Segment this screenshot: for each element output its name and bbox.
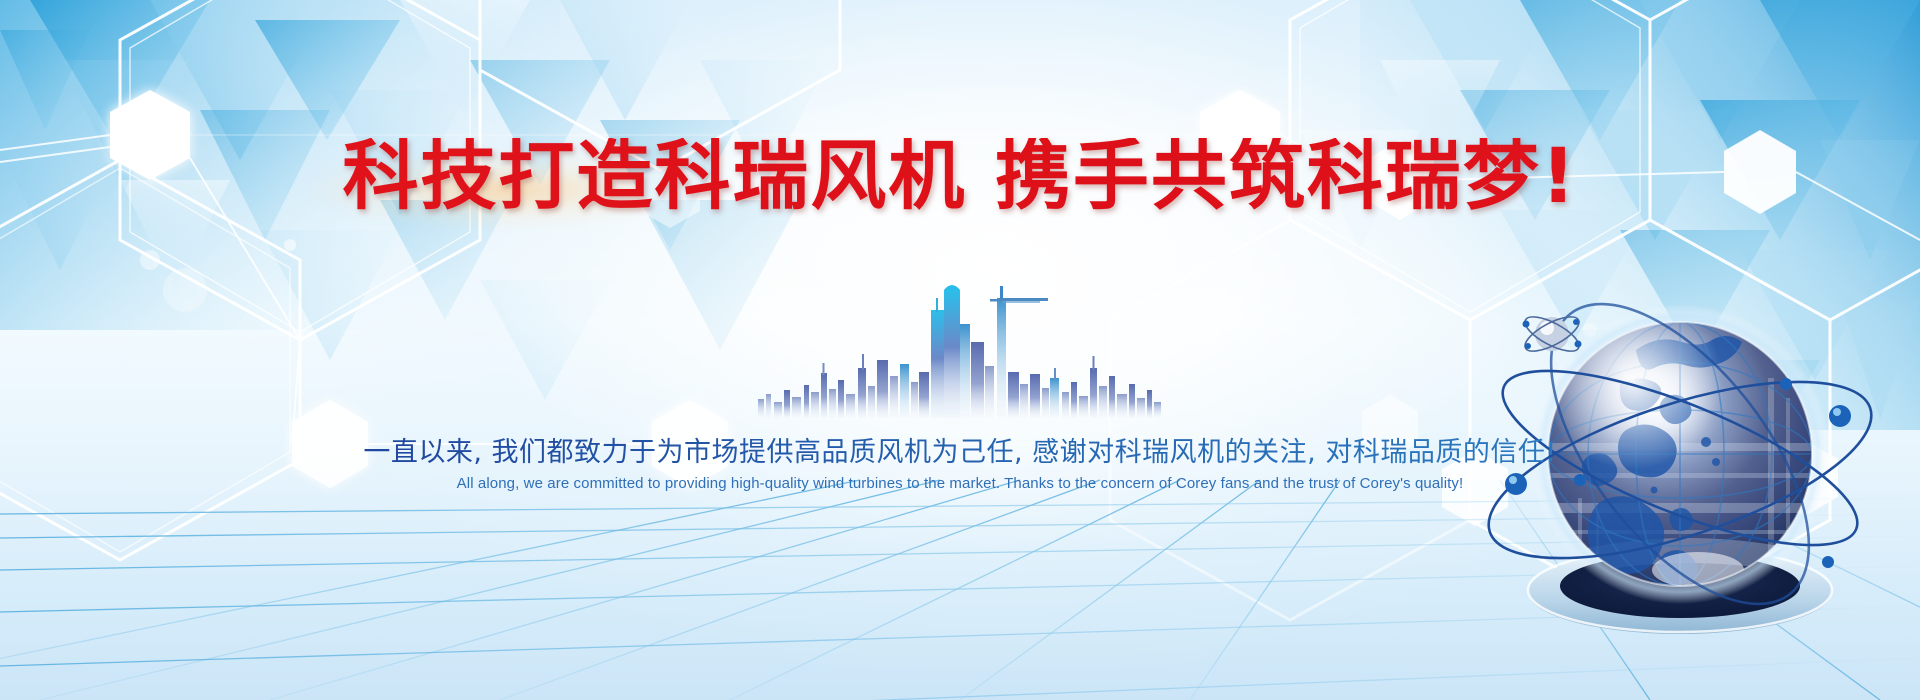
subtitle-chinese: 一直以来, 我们都致力于为市场提供高品质风机为己任, 感谢对科瑞风机的关注, 对… xyxy=(0,430,1920,469)
banner-content: 科技打造科瑞风机 携手共筑科瑞梦! 一直以来, 我们都致力于为市场提供高品质风机… xyxy=(0,0,1920,700)
subtitle-english: All along, we are committed to providing… xyxy=(0,475,1920,492)
page-title: 科技打造科瑞风机 携手共筑科瑞梦! xyxy=(0,138,1920,214)
tech-banner: 科技打造科瑞风机 携手共筑科瑞梦! 一直以来, 我们都致力于为市场提供高品质风机… xyxy=(0,0,1920,700)
